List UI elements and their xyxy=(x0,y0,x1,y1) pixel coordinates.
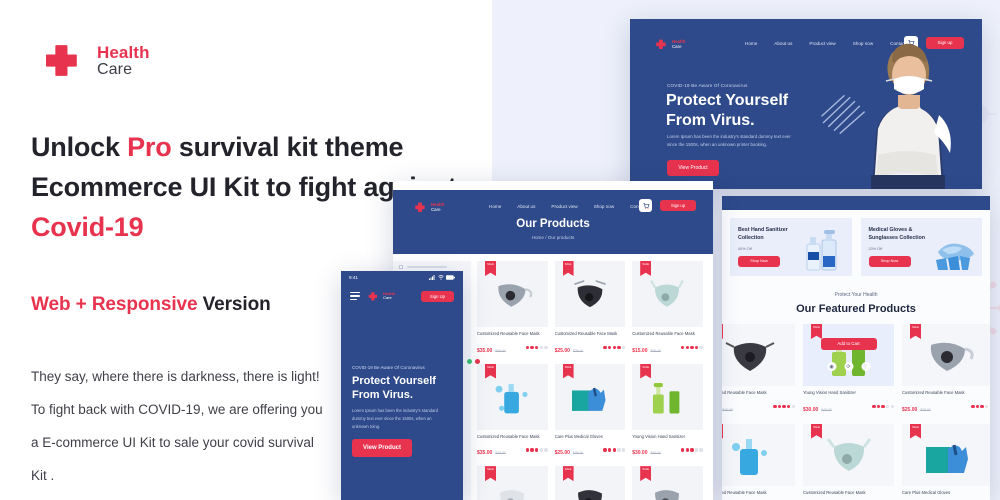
nav-item-home[interactable]: Home xyxy=(745,41,757,46)
nav-item-product-view[interactable]: Product view xyxy=(551,204,577,209)
featured-products-mockup: Best Hand Sanitizer Collection 40% Off S… xyxy=(722,196,990,500)
rating-stars xyxy=(603,448,625,451)
heart-icon[interactable]: ♡ xyxy=(861,362,870,371)
mobile-title-line2: From Virus. xyxy=(352,389,413,401)
product-old-price: $35.00 xyxy=(920,408,930,412)
ribbon-label: SALE xyxy=(485,364,496,370)
promo-shop-now-button[interactable]: Shop Now xyxy=(738,256,780,267)
rating-stars xyxy=(526,346,548,349)
table-row[interactable]: SALE Customized Reusable Face Mask xyxy=(632,466,703,500)
product-name: Customized Reusable Face Mask xyxy=(722,490,795,495)
sale-ribbon: SALE xyxy=(722,324,723,339)
crescent-cross-icon xyxy=(365,289,380,304)
rating-stars xyxy=(872,405,894,408)
product-price-row: $30.00$40.00 xyxy=(632,441,703,459)
featured-eyebrow: Protect Your Health xyxy=(722,292,990,298)
table-row[interactable]: SALE Customized Reusable Face Mask $15.0… xyxy=(632,261,703,357)
brand-name-line1: Health xyxy=(97,44,150,62)
subheadline-rest: Version xyxy=(197,294,270,315)
hero-cta-button[interactable]: View Product xyxy=(667,160,719,176)
wifi-icon xyxy=(438,275,444,280)
promo-title: Best Hand Sanitizer Collection xyxy=(738,227,801,243)
headline-part-2: Pro xyxy=(127,132,171,162)
crescent-cross-icon xyxy=(652,36,669,53)
table-row[interactable]: SALE Customized Reusable Face Mask $35.0… xyxy=(477,364,548,460)
screenshot-stage: Health Care Unlock Pro survival kit them… xyxy=(0,0,1000,500)
crescent-cross-icon xyxy=(411,199,428,216)
ribbon-label: SALE xyxy=(563,364,574,370)
hero-title: Protect Yourself From Virus. xyxy=(666,91,846,131)
cart-icon[interactable] xyxy=(639,199,652,212)
product-name: Care Plus Medical Gloves xyxy=(902,490,990,495)
sanitizer-bottles-image xyxy=(802,228,848,272)
ribbon-label: SALE xyxy=(485,466,496,472)
product-price: $30.00 xyxy=(803,407,818,413)
featured-top-strip xyxy=(722,196,990,210)
hero-title-line2: From Virus. xyxy=(666,112,755,129)
product-price: $35.00 xyxy=(477,348,492,354)
mobile-logo[interactable]: Health Care xyxy=(365,289,395,304)
featured-section-title: Our Featured Products xyxy=(722,303,990,315)
signup-button[interactable]: Sign up xyxy=(660,200,696,211)
battery-icon xyxy=(446,275,455,280)
rating-stars xyxy=(773,405,795,408)
product-old-price: $45.00 xyxy=(495,451,505,455)
hero-title-line1: Protect Yourself xyxy=(666,92,788,109)
promo-title: Medical Gloves & Sunglasses Collection xyxy=(869,227,932,243)
quick-action-icons: ◉ ⟳ ♡ xyxy=(827,362,870,371)
product-price-row: $25.00$35.00 xyxy=(555,339,626,357)
product-price: $25.00 xyxy=(555,450,570,456)
breadcrumb: Home / Our products xyxy=(393,235,713,240)
product-card[interactable]: SALE Customized Reusable Face Mask $25.0… xyxy=(902,324,990,416)
product-price: $30.00 xyxy=(632,450,647,456)
promo-shop-now-button[interactable]: Shop Now xyxy=(869,256,911,267)
featured-product-grid: SALE Customized Reusable Face Mask $35.0… xyxy=(722,324,990,500)
product-name: Customized Reusable Face Mask xyxy=(803,490,894,495)
product-name: Care Plus Medical Gloves xyxy=(555,434,626,439)
table-row[interactable]: SALE Customized Reusable Face Mask $35.0… xyxy=(477,261,548,357)
product-price: $25.00 xyxy=(902,407,917,413)
product-name: Young Vision Hand Sanitizer xyxy=(632,434,703,439)
product-price: $25.00 xyxy=(555,348,570,354)
nav-item-about-us[interactable]: About us xyxy=(517,204,535,209)
mobile-mockup: 9:41 Health Care Sign Up xyxy=(341,271,463,500)
ribbon-label: SALE xyxy=(640,261,651,267)
product-card[interactable]: SALE Customized Reusable Face Mask $25.0… xyxy=(803,424,894,500)
product-grid: SALE Customized Reusable Face Mask $35.0… xyxy=(477,261,703,500)
checkbox-icon[interactable] xyxy=(399,265,403,269)
hero-logo[interactable]: Health Care xyxy=(652,36,685,53)
product-price: $35.00 xyxy=(477,450,492,456)
product-price-row: $25.00$35.00 xyxy=(555,441,626,459)
nav-item-product-view[interactable]: Product view xyxy=(809,41,835,46)
crescent-cross-icon xyxy=(32,33,88,89)
ribbon-label: SALE xyxy=(485,261,496,267)
mobile-top-bar: Health Care Sign Up xyxy=(341,285,463,307)
products-logo[interactable]: Health Care xyxy=(411,199,444,216)
table-row[interactable]: SALE Care Plus Medical Gloves $25.00$35.… xyxy=(555,364,626,460)
subheadline-accent: Web + Responsive xyxy=(31,294,197,315)
ribbon-label: SALE xyxy=(811,424,822,430)
goggles-gloves-image xyxy=(932,228,978,272)
product-old-price: $35.00 xyxy=(573,349,583,353)
hamburger-icon[interactable] xyxy=(350,292,360,300)
product-price-row: $35.00$45.00 xyxy=(477,339,548,357)
rating-stars xyxy=(526,448,548,451)
ribbon-label: SALE xyxy=(640,466,651,472)
ribbon-label: SALE xyxy=(910,324,921,330)
table-row[interactable]: SALE Customized Reusable Face Mask $25.0… xyxy=(555,261,626,357)
add-to-cart-button[interactable]: Add to Cart xyxy=(821,338,877,350)
nav-item-about-us[interactable]: About us xyxy=(774,41,792,46)
hero-eyebrow: COVID-19 Be Aware Of Coronavirus xyxy=(667,83,748,88)
product-price: $15.00 xyxy=(632,348,647,354)
product-price-row: $15.00$25.00 xyxy=(632,339,703,357)
mobile-cta-button[interactable]: View Product xyxy=(352,439,412,457)
product-old-price: $25.00 xyxy=(650,349,660,353)
product-price-row: $35.00$45.00 xyxy=(477,441,548,459)
mobile-logo-line2: Care xyxy=(383,296,395,300)
ribbon-label: SALE xyxy=(563,261,574,267)
product-price-row: $30.00$40.00 xyxy=(803,398,894,416)
product-old-price: $40.00 xyxy=(821,408,831,412)
nav-item-shop-now[interactable]: Shop now xyxy=(594,204,614,209)
ribbon-label: SALE xyxy=(563,466,574,472)
product-old-price: $45.00 xyxy=(495,349,505,353)
product-price-row: $25.00$35.00 xyxy=(902,398,990,416)
brand-logo[interactable]: Health Care xyxy=(32,33,150,89)
hero-mockup: Health Care Home About us Product view S… xyxy=(630,19,982,189)
products-page-title: Our Products xyxy=(393,218,713,230)
hero-logo-line2: Care xyxy=(672,45,685,49)
hero-body-text: Lorem Ipsum has been the industry's stan… xyxy=(667,133,792,149)
mobile-signup-button[interactable]: Sign Up xyxy=(421,291,454,302)
ribbon-label: SALE xyxy=(910,424,921,430)
product-price-row: $35.00$45.00 xyxy=(722,398,795,416)
products-logo-line2: Care xyxy=(431,208,444,212)
table-row[interactable]: SALE Customized Reusable Face Mask xyxy=(477,466,548,500)
table-row[interactable]: SALE Young Vision Hand Sanitizer $30.00$… xyxy=(632,364,703,460)
product-name: Customized Reusable Face Mask xyxy=(902,390,990,395)
product-name: Young Vision Hand Sanitizer xyxy=(803,390,894,395)
product-card[interactable]: SALE Care Plus Medical Gloves $30.00$40.… xyxy=(902,424,990,500)
rating-stars xyxy=(681,346,703,349)
ribbon-label: SALE xyxy=(722,424,723,430)
promo-card-gloves[interactable]: Medical Gloves & Sunglasses Collection 2… xyxy=(861,218,983,276)
ribbon-label: SALE xyxy=(722,324,723,330)
mobile-eyebrow: COVID-19 Be Aware Of Coronavirus xyxy=(352,365,425,370)
carousel-dot[interactable] xyxy=(467,359,472,364)
products-nav: Home About us Product view Shop now Cont… xyxy=(489,204,652,209)
woman-with-face-mask-photo xyxy=(854,37,958,189)
promo-card-sanitizer[interactable]: Best Hand Sanitizer Collection 40% Off S… xyxy=(730,218,852,276)
filter-label xyxy=(407,266,447,269)
product-name: Customized Reusable Face Mask xyxy=(555,331,626,336)
product-name: Customized Reusable Face Mask xyxy=(477,434,548,439)
table-row[interactable]: SALE Customized Reusable Face Mask xyxy=(555,466,626,500)
product-card[interactable]: SALE Customized Reusable Face Mask $35.0… xyxy=(722,424,795,500)
status-bar: 9:41 xyxy=(341,271,463,284)
product-card[interactable]: SALE Customized Reusable Face Mask $35.0… xyxy=(722,324,795,416)
product-name: Customized Reusable Face Mask xyxy=(477,331,548,336)
refresh-icon[interactable]: ⟳ xyxy=(844,362,853,371)
promo-banner-row: Best Hand Sanitizer Collection 40% Off S… xyxy=(730,218,982,276)
product-old-price: $40.00 xyxy=(650,451,660,455)
status-time: 9:41 xyxy=(349,275,358,280)
blue-sanitizer-image xyxy=(722,424,795,486)
rating-stars xyxy=(603,346,625,349)
black-mask-image xyxy=(722,324,795,386)
product-old-price: $35.00 xyxy=(573,451,583,455)
rating-stars xyxy=(971,405,990,408)
brand-name-line2: Care xyxy=(97,62,150,79)
product-old-price: $45.00 xyxy=(722,408,732,412)
ribbon-label: SALE xyxy=(640,364,651,370)
promo-paragraph: They say, where there is darkness, there… xyxy=(31,360,331,492)
product-name: Customized Reusable Face Mask xyxy=(632,331,703,336)
nav-item-home[interactable]: Home xyxy=(489,204,501,209)
headline-part-4: Covid-19 xyxy=(31,212,143,242)
product-name: Customized Reusable Face Mask xyxy=(722,390,795,395)
ribbon-label: SALE xyxy=(811,324,822,330)
sale-ribbon: SALE xyxy=(722,424,723,439)
mobile-title: Protect Yourself From Virus. xyxy=(352,374,457,402)
mobile-title-line1: Protect Yourself xyxy=(352,375,436,387)
status-icons xyxy=(429,275,455,280)
product-card-hovered[interactable]: SALE Add to Cart ◉ ⟳ ♡ Young Vision Hand… xyxy=(803,324,894,416)
mobile-body-text: Lorem Ipsum has been the industry's stan… xyxy=(352,407,447,432)
signal-icon xyxy=(429,275,436,280)
eye-icon[interactable]: ◉ xyxy=(827,362,836,371)
headline-part-1: Unlock xyxy=(31,132,127,162)
rating-stars xyxy=(681,448,703,451)
